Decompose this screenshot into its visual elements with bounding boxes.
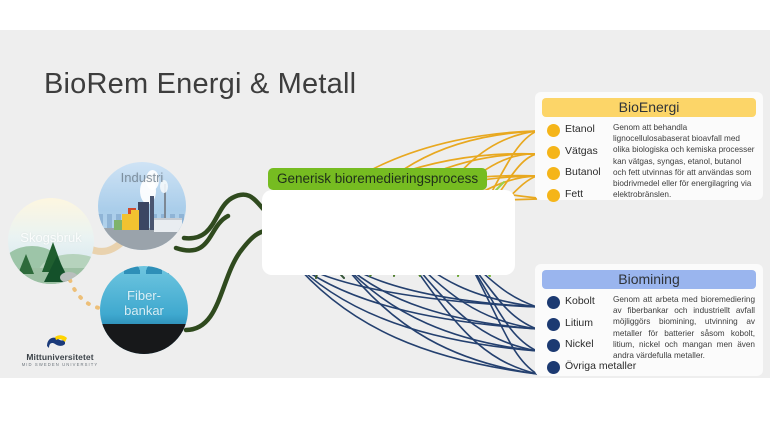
source-label-skogsbruk: Skogsbruk [8,230,94,245]
process-badge[interactable]: Generisk bioremedieringsprocess [268,168,487,190]
bullet-dot-icon [547,318,560,331]
bullet-label: Vätgas [565,144,598,159]
logo-subtitle: MID SWEDEN UNIVERSITY [10,362,110,367]
panel-bioenergi: BioEnergi Etanol Vätgas Butanol Fett Gen… [535,92,763,200]
bullet-dot-icon [547,339,560,352]
source-label-fiberbankar: Fiber- bankar [100,288,188,318]
building-shape [131,210,139,230]
bullet-label: Litium [565,316,593,331]
link-fiberbankar-process [186,230,268,330]
page-title: BioRem Energi & Metall [44,68,356,101]
panel-biomining: Biomining Kobolt Litium Nickel Övriga me… [535,264,763,376]
chimney-icon [138,202,149,230]
bullet-dot-icon [547,146,560,159]
panel-title-bioenergi: BioEnergi [542,98,756,117]
bullet-dot-icon [547,296,560,309]
water-surface-shape [100,266,188,274]
bullet-label: Etanol [565,122,595,137]
source-label-line1: Fiber- [127,288,161,303]
panel-body-biomining: Genom att arbeta med bioremediering av f… [613,294,755,361]
tree-icon [18,254,34,274]
rock-shape [60,272,78,283]
list-item[interactable]: Övriga metaller [543,359,643,379]
university-logo: Mittuniversitetet MID SWEDEN UNIVERSITY [10,335,120,375]
panel-body-bioenergi: Genom att behandla lignocellulosabaserat… [613,122,755,200]
process-card [262,190,515,275]
bullet-dot-icon [547,124,560,137]
factory-shape [154,218,182,232]
source-label-line2: bankar [124,303,164,318]
bullet-dot-icon [547,189,560,202]
logo-name: Mittuniversitetet [10,352,110,362]
bullet-dot-icon [547,167,560,180]
source-circle-industri[interactable]: Industri [98,162,186,250]
source-circle-skogsbruk[interactable]: Skogsbruk [8,198,94,284]
source-label-industri: Industri [98,170,186,185]
link-industri-process-a [184,195,266,239]
bullet-label: Butanol [565,165,601,180]
mittuniversitetet-mark-icon [46,335,68,351]
building-shape [122,214,131,230]
bullet-dot-icon [547,361,560,374]
bullet-label: Fett [565,187,583,202]
slide-canvas: BioRem Energi & Metall Skogsbruk Industr… [0,30,770,378]
panel-title-biomining: Biomining [542,270,756,289]
bullet-label: Nickel [565,337,594,352]
bullet-label: Kobolt [565,294,595,309]
